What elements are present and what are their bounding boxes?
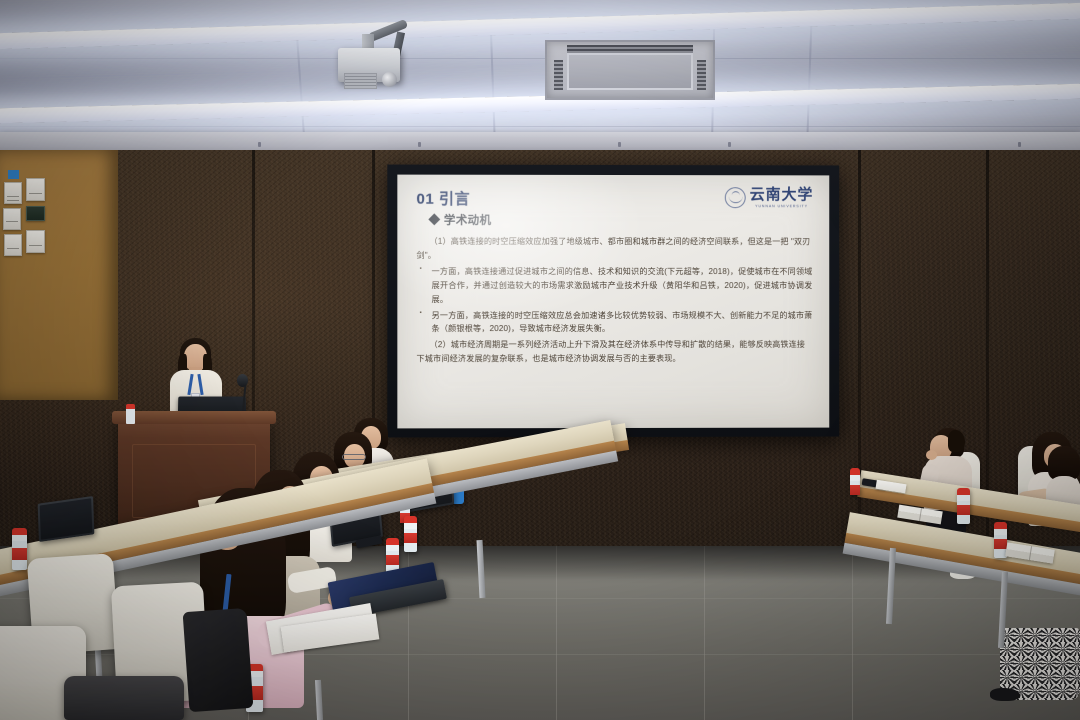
bottle-label bbox=[850, 485, 860, 495]
ceiling-fixture-dot bbox=[618, 142, 621, 147]
water-bottle bbox=[404, 516, 417, 552]
vent-side-grille bbox=[554, 60, 563, 90]
backpack bbox=[183, 608, 254, 712]
person-hair-bun bbox=[948, 430, 965, 452]
projector-vent bbox=[344, 73, 377, 89]
bottle-label bbox=[957, 505, 970, 515]
water-bottle bbox=[957, 488, 970, 524]
conference-room-scene: 云南大学 YUNNAN UNIVERSITY 01 引言 ◆ 学术动机 （1）高… bbox=[0, 0, 1080, 720]
notice-text-line bbox=[7, 196, 19, 197]
screen-surface: 云南大学 YUNNAN UNIVERSITY 01 引言 ◆ 学术动机 （1）高… bbox=[397, 175, 829, 429]
wall-notice-dark bbox=[26, 206, 45, 221]
person-shoe bbox=[990, 688, 1020, 701]
slide-body: （1）高铁连接的时空压缩效应加强了地级城市、都市圈和城市群之间的经济空间联系，但… bbox=[416, 235, 812, 367]
person-hair bbox=[1048, 446, 1080, 480]
wall-notice bbox=[4, 182, 22, 204]
gooseneck-microphone bbox=[237, 374, 248, 387]
laptop bbox=[38, 496, 95, 542]
vent-louver bbox=[567, 45, 693, 53]
slide-bullet: 一方面，高铁连接通过促进城市之间的信息、技术和知识的交流(下元超等，2018)，… bbox=[416, 265, 812, 307]
podium-top-surface bbox=[112, 411, 276, 424]
slide-paragraph: （2）城市经济周期是一系列经济活动上升下滑及其在经济体系中传导和扩散的结果，能够… bbox=[416, 338, 812, 366]
water-bottle bbox=[126, 404, 135, 424]
university-crest-icon bbox=[725, 187, 746, 208]
notice-text-line bbox=[7, 200, 19, 201]
person-hand bbox=[926, 450, 937, 460]
ceiling-seam bbox=[0, 58, 1080, 59]
wall-notice bbox=[26, 230, 45, 253]
notice-text-line bbox=[29, 245, 42, 246]
notice-text-line bbox=[6, 221, 18, 222]
vent-side-grille bbox=[697, 60, 706, 90]
bottle-label bbox=[12, 548, 27, 560]
university-name-en: YUNNAN UNIVERSITY bbox=[750, 204, 814, 208]
laptop-screen bbox=[40, 498, 93, 539]
projection-screen: 云南大学 YUNNAN UNIVERSITY 01 引言 ◆ 学术动机 （1）高… bbox=[387, 165, 839, 438]
slide-subtitle: ◆ 学术动机 bbox=[429, 212, 813, 228]
notice-text-line bbox=[7, 248, 19, 249]
wall-panel-seam bbox=[858, 150, 861, 570]
bottle-label bbox=[994, 539, 1007, 549]
bottle-label bbox=[386, 555, 399, 565]
projector-lens bbox=[382, 72, 397, 87]
ceiling-fixture-dot bbox=[418, 142, 421, 147]
wall-notice bbox=[26, 178, 45, 201]
slide-bullet: 另一方面，高铁连接的时空压缩效应总会加速诸多比较优势较弱、市场规模不大、创新能力… bbox=[416, 309, 812, 337]
air-conditioning-vent bbox=[545, 40, 715, 100]
vent-inner-panel bbox=[567, 53, 693, 90]
wall-notice bbox=[3, 208, 21, 230]
university-logo: 云南大学 YUNNAN UNIVERSITY bbox=[725, 187, 814, 208]
ceiling-seam bbox=[0, 126, 1080, 127]
notice-blue-tag bbox=[8, 170, 19, 179]
projector-body bbox=[338, 48, 400, 82]
university-name-cn: 云南大学 bbox=[750, 187, 814, 202]
chair-armrest bbox=[64, 676, 184, 720]
ceiling-fixture-dot bbox=[728, 142, 731, 147]
wall-notice-board bbox=[0, 150, 118, 400]
slide-paragraph: （1）高铁连接的时空压缩效应加强了地级城市、都市圈和城市群之间的经济空间联系，但… bbox=[416, 235, 812, 263]
ceiling-fixture-dot bbox=[1018, 142, 1021, 147]
water-bottle bbox=[850, 468, 860, 495]
wall-notice bbox=[4, 234, 22, 256]
presentation-slide: 云南大学 YUNNAN UNIVERSITY 01 引言 ◆ 学术动机 （1）高… bbox=[397, 175, 829, 429]
notice-text-line bbox=[29, 193, 42, 194]
bottle-label bbox=[404, 533, 417, 543]
ceiling-projector bbox=[338, 30, 408, 82]
water-bottle bbox=[12, 528, 27, 570]
ceiling-fixture-dot bbox=[258, 142, 261, 147]
